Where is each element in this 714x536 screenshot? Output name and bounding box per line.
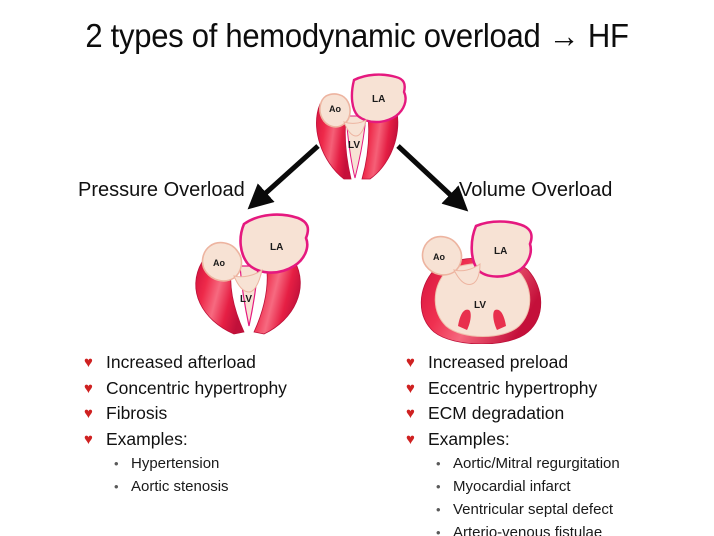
list-item-label: Fibrosis [106,401,384,427]
sub-list-item-label: Aortic stenosis [131,475,384,498]
page-title: 2 types of hemodynamic overload → HF [21,16,692,56]
sub-list-item-label: Arterio-venous fistulae [453,521,706,536]
list-item: ♥ Fibrosis [84,401,384,427]
list-item-label: ECM degradation [428,401,706,427]
dot-bullet-icon: • [436,475,453,498]
sub-list-item-label: Ventricular septal defect [453,498,706,521]
heart-bullet-icon: ♥ [406,401,428,427]
sub-list-item-label: Aortic/Mitral regurgitation [453,452,706,475]
dot-bullet-icon: • [436,498,453,521]
heart-bullet-icon: ♥ [406,350,428,376]
list-item-label: Eccentric hypertrophy [428,376,706,402]
list-item: ♥ Eccentric hypertrophy [406,376,706,402]
arrow-to-pressure-overload [244,142,324,214]
list-item-label: Examples: [428,427,706,453]
sub-list-item: • Aortic stenosis [84,475,384,498]
list-item-label: Concentric hypertrophy [106,376,384,402]
sub-list-item-label: Hypertension [131,452,384,475]
list-item-label: Increased preload [428,350,706,376]
label-aorta: Ao [213,258,225,268]
sub-list-item: • Ventricular septal defect [406,498,706,521]
heart-bullet-icon: ♥ [84,427,106,453]
heart-bullet-icon: ♥ [406,427,428,453]
dot-bullet-icon: • [114,475,131,498]
volume-overload-list: ♥ Increased preload ♥ Eccentric hypertro… [406,350,706,536]
list-item: ♥ ECM degradation [406,401,706,427]
label-aorta: Ao [329,104,341,114]
heart-bullet-icon: ♥ [84,376,106,402]
eccentric-hypertrophy-heart-figure: Ao LA LV [412,216,552,344]
sub-list-item: • Hypertension [84,452,384,475]
label-left-ventricle: LV [348,140,360,151]
volume-examples-sublist: • Aortic/Mitral regurgitation • Myocardi… [406,452,706,536]
list-item: ♥ Examples: • Hypertension • Aortic sten… [84,427,384,499]
label-left-atrium: LA [494,246,507,257]
pressure-overload-heading: Pressure Overload [78,178,245,202]
heart-bullet-icon: ♥ [84,350,106,376]
list-item: ♥ Increased afterload [84,350,384,376]
list-item: ♥ Concentric hypertrophy [84,376,384,402]
list-item-label: Examples: [106,427,384,453]
dot-bullet-icon: • [114,452,131,475]
list-item-label: Increased afterload [106,350,384,376]
label-left-ventricle: LV [474,300,486,311]
pressure-overload-list: ♥ Increased afterload ♥ Concentric hyper… [84,350,384,498]
label-left-ventricle: LV [240,294,252,305]
pressure-examples-sublist: • Hypertension • Aortic stenosis [84,452,384,498]
sub-list-item: • Myocardial infarct [406,475,706,498]
label-left-atrium: LA [372,94,385,105]
dot-bullet-icon: • [436,452,453,475]
volume-overload-heading: Volume Overload [459,178,612,202]
label-left-atrium: LA [270,242,283,253]
concentric-hypertrophy-heart-figure: Ao LA LV [182,206,324,336]
sub-list-item: • Arterio-venous fistulae [406,521,706,536]
sub-list-item-label: Myocardial infarct [453,475,706,498]
heart-bullet-icon: ♥ [84,401,106,427]
dot-bullet-icon: • [436,521,453,536]
list-item: ♥ Increased preload [406,350,706,376]
list-item: ♥ Examples: • Aortic/Mitral regurgitatio… [406,427,706,536]
label-aorta: Ao [433,252,445,262]
heart-bullet-icon: ♥ [406,376,428,402]
slide-canvas: 2 types of hemodynamic overload → HF [0,0,714,536]
sub-list-item: • Aortic/Mitral regurgitation [406,452,706,475]
